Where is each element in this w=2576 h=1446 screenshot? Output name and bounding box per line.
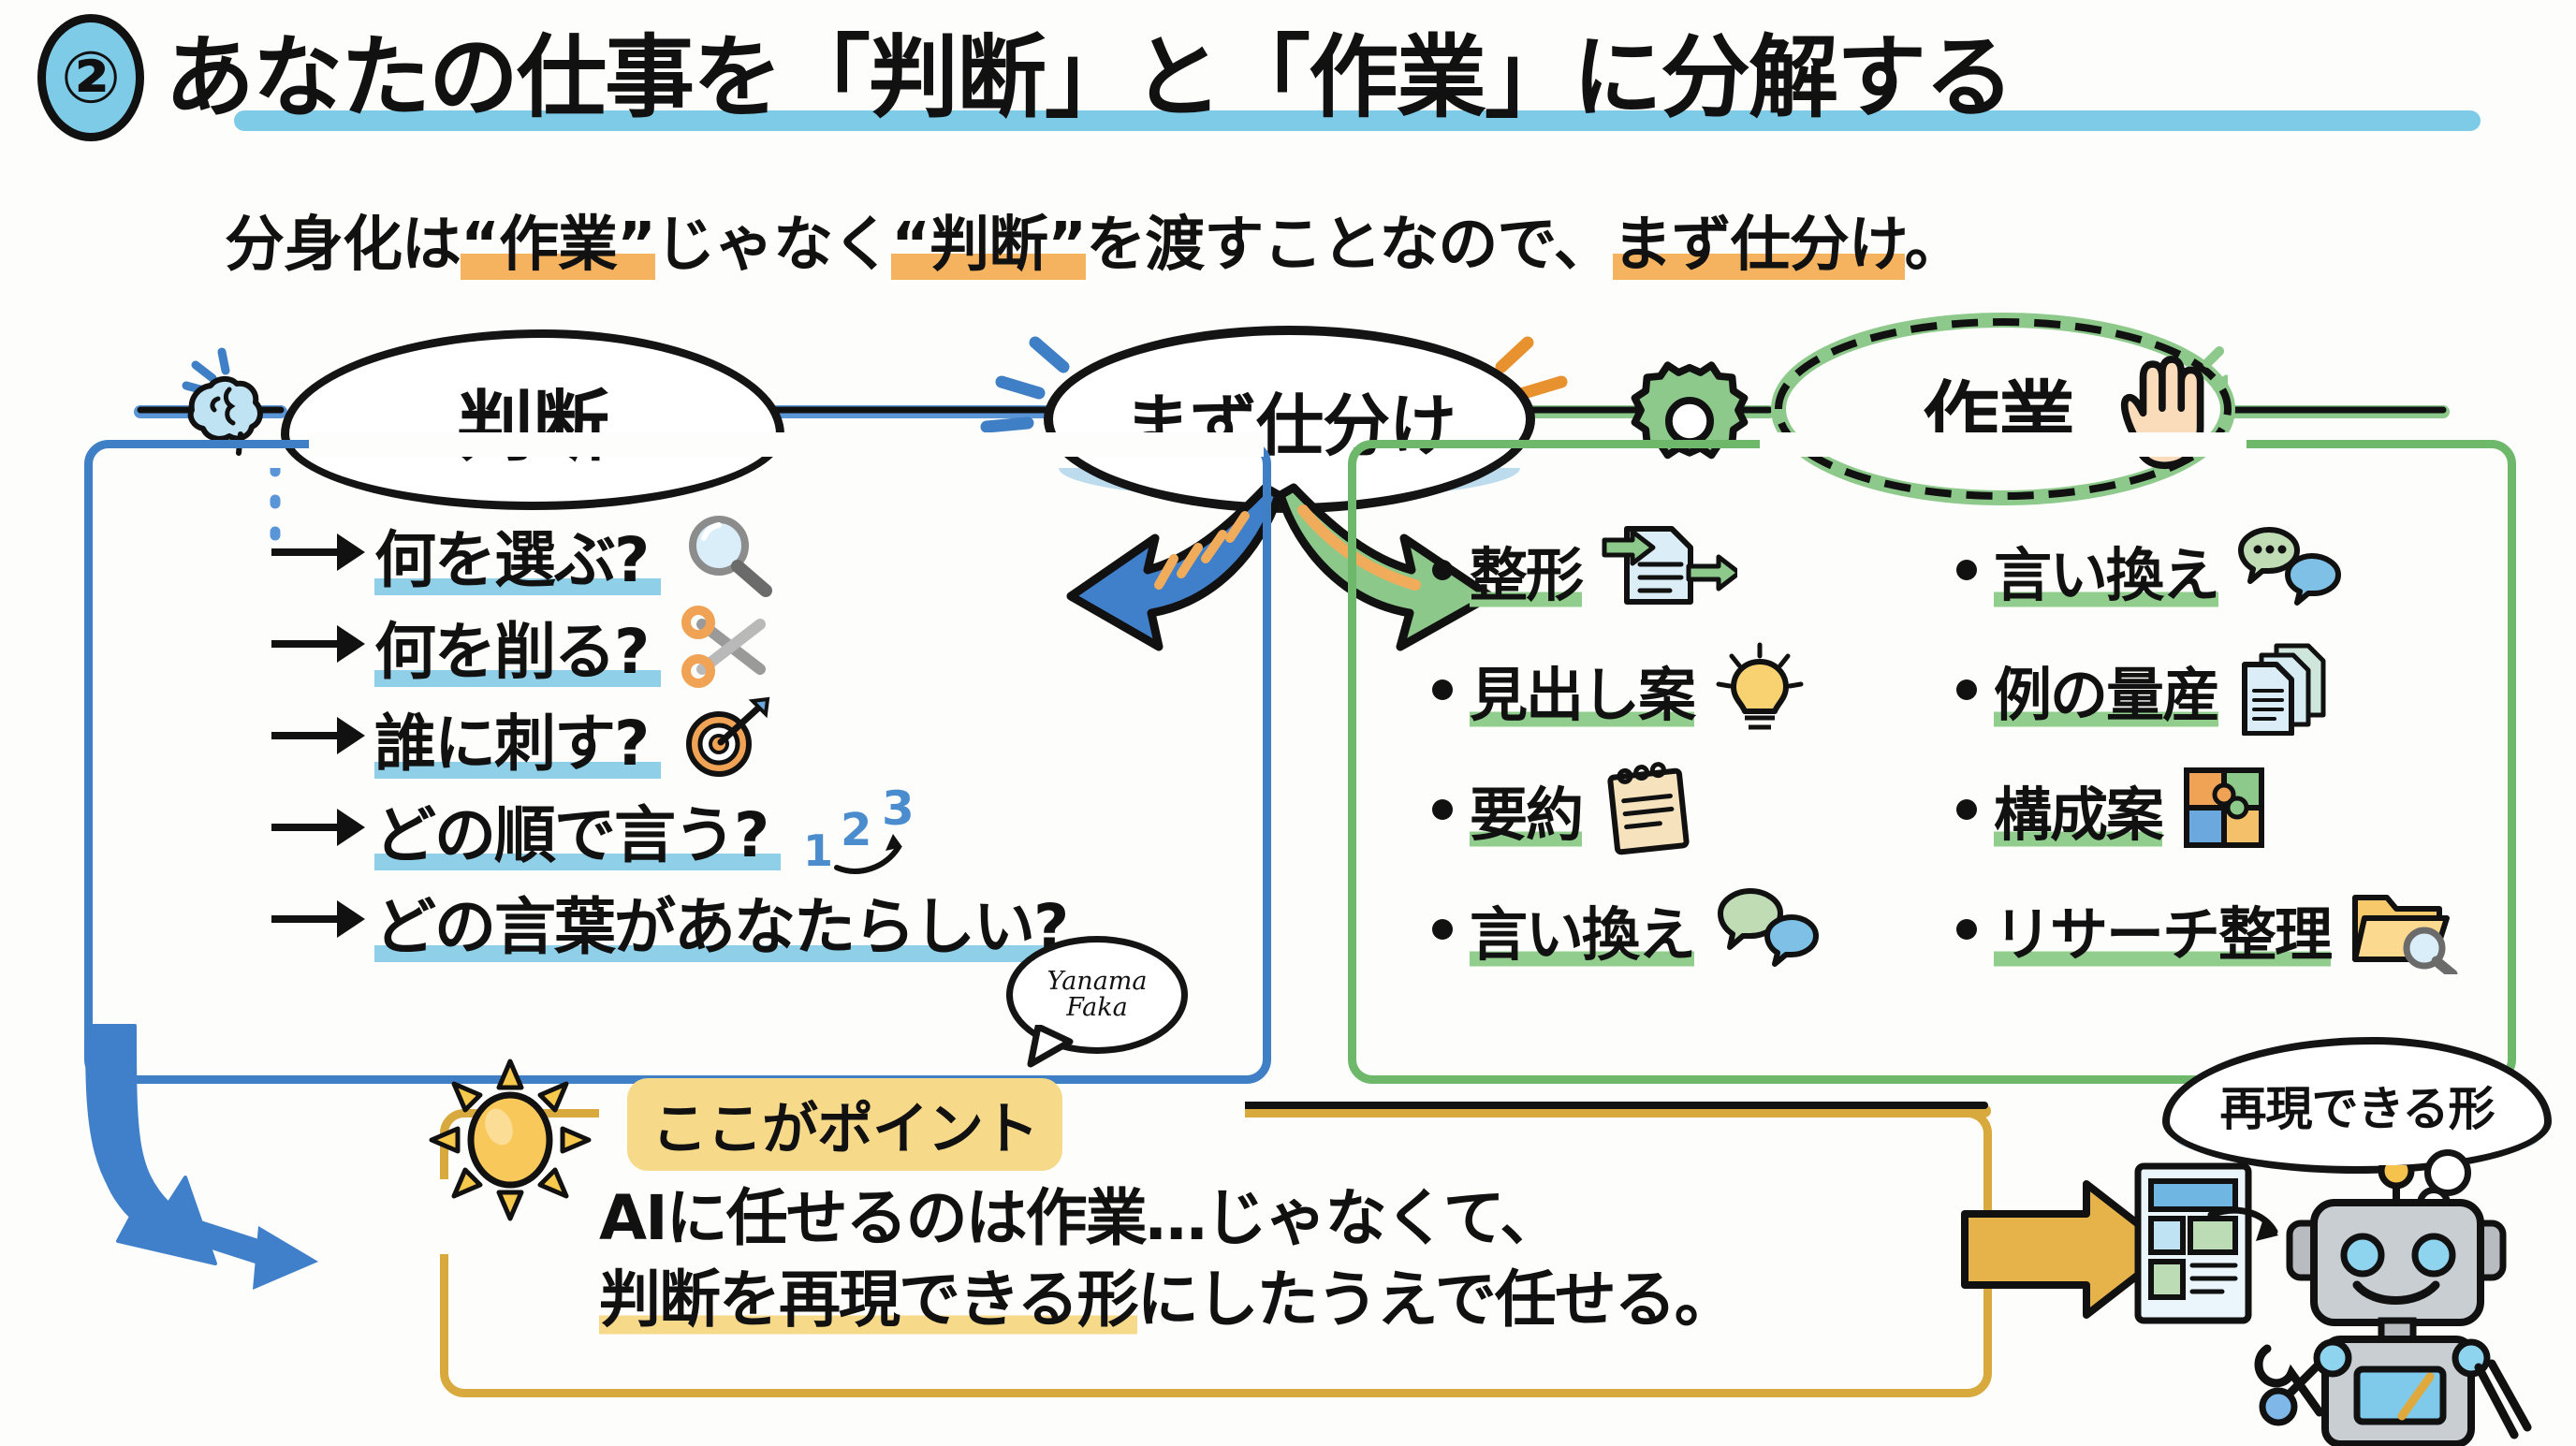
arrow-icon [271,707,374,763]
point-line-1: AIに任せるのは作業…じゃなくて、 [599,1177,1956,1259]
task-item-label: 見出し案 [1470,648,1694,732]
numbers-123-icon: 1 2 3 [799,787,940,881]
notepad-icon [1599,759,1702,860]
puzzle-icon [2179,763,2271,856]
svg-text:1: 1 [803,825,833,876]
magnifier-icon [680,512,781,602]
point-line-2-rest: にしたうえで任せる。 [1137,1263,1734,1336]
signature-line-1: Yanama [1046,969,1147,995]
subtitle-highlight-shiwake: まず仕分け [1613,211,1905,280]
robot-thought-label: 再現できる形 [2220,1072,2495,1139]
speech-bubbles-dots-icon [2235,526,2344,614]
document-arrow-icon [1599,523,1737,617]
judgment-item-label: どの順で言う? [374,785,781,875]
bullet-icon [1432,919,1453,940]
list-item[interactable]: 何を選ぶ? [271,510,1226,602]
task-item-label: 要約 [1470,767,1582,852]
bullet-icon [1956,679,1977,700]
panel-left-top-mask [309,432,1264,457]
point-chip: ここがポイント [627,1078,1062,1171]
task-list-secondary: 言い換え 例の量産 [1956,510,2518,989]
arrow-icon [271,890,374,946]
subtitle-part-3: を渡すことなので、 [1086,211,1613,280]
page-subtitle: 分身化は“作業”じゃなく“判断”を渡すことなので、まず仕分け。 [225,197,1964,283]
judgment-list: 何を選ぶ? 何を削る? [271,510,1226,969]
subtitle-highlight-handan: “判断” [891,211,1086,280]
target-icon [680,695,773,785]
step-number-badge: ② [37,14,144,141]
list-item[interactable]: 言い換え [1956,510,2518,630]
bullet-icon [1432,799,1453,820]
robot-icon [2247,1165,2555,1446]
signature-line-2: Faka [1066,995,1127,1021]
svg-text:3: 3 [882,787,915,836]
scissors-icon [680,604,777,694]
list-item[interactable]: 誰に刺す? [271,694,1226,785]
task-item-label: リサーチ整理 [1994,887,2331,971]
point-line-2-highlight: 判断を再現できる形 [599,1263,1137,1336]
subtitle-highlight-sagyou: “作業” [461,211,655,280]
subtitle-part-4: 。 [1905,211,1964,280]
page-title: ② あなたの仕事を「判断」と「作業」に分解する [37,17,2527,139]
subtitle-part-1: 分身化は [225,211,461,280]
task-item-label: 言い換え [1470,887,1694,971]
judgment-item-label: 何を選ぶ? [374,510,661,600]
task-item-label: 例の量産 [1994,648,2218,732]
signature-bubble-tail [1025,1025,1090,1072]
blue-flow-arrow-head [84,1039,477,1310]
lightbulb-icon [1711,641,1808,738]
arrow-icon [271,523,374,579]
documents-stack-icon [2235,640,2340,739]
point-line-2: 判断を再現できる形にしたうえで任せる。 [599,1259,1956,1340]
task-item-label: 構成案 [1994,767,2162,852]
task-item-label: 言い換え [1994,528,2218,612]
list-item[interactable]: 整形 [1432,510,1956,630]
bullet-icon [1956,560,1977,580]
bullet-icon [1432,679,1453,700]
bullet-icon [1956,799,1977,820]
judgment-item-label: どの言葉があなたらしい? [374,877,1080,967]
page-title-text: あなたの仕事を「判断」と「作業」に分解する [165,33,2012,123]
list-item[interactable]: 例の量産 [1956,630,2518,750]
bullet-icon [1956,919,1977,940]
sun-icon [426,1056,594,1224]
task-list-primary: 整形 見出し案 [1432,510,1956,989]
task-item-label: 整形 [1470,528,1582,612]
subtitle-part-2: じゃなく [655,211,891,280]
svg-text:2: 2 [841,804,871,856]
list-item[interactable]: 何を削る? [271,602,1226,694]
speech-bubbles-icon [1711,885,1820,973]
list-item[interactable]: リサーチ整理 [1956,869,2518,989]
list-item[interactable]: 構成案 [1956,750,2518,869]
list-item[interactable]: 言い換え [1432,869,1956,989]
point-text: AIに任せるのは作業…じゃなくて、 判断を再現できる形にしたうえで任せる。 [599,1177,1956,1340]
panel-right-top-mask [1760,432,2247,457]
judgment-item-label: 何を削る? [374,602,661,692]
list-item[interactable]: 見出し案 [1432,630,1956,750]
list-item[interactable]: 要約 [1432,750,1956,869]
point-chip-connector [1245,1090,1994,1128]
arrow-icon [271,615,374,671]
list-item[interactable]: どの順で言う? 1 2 3 [271,785,1226,877]
arrow-icon [271,798,374,854]
judgment-item-label: 誰に刺す? [374,694,661,783]
folder-search-icon [2348,881,2458,978]
bullet-icon [1432,560,1453,580]
